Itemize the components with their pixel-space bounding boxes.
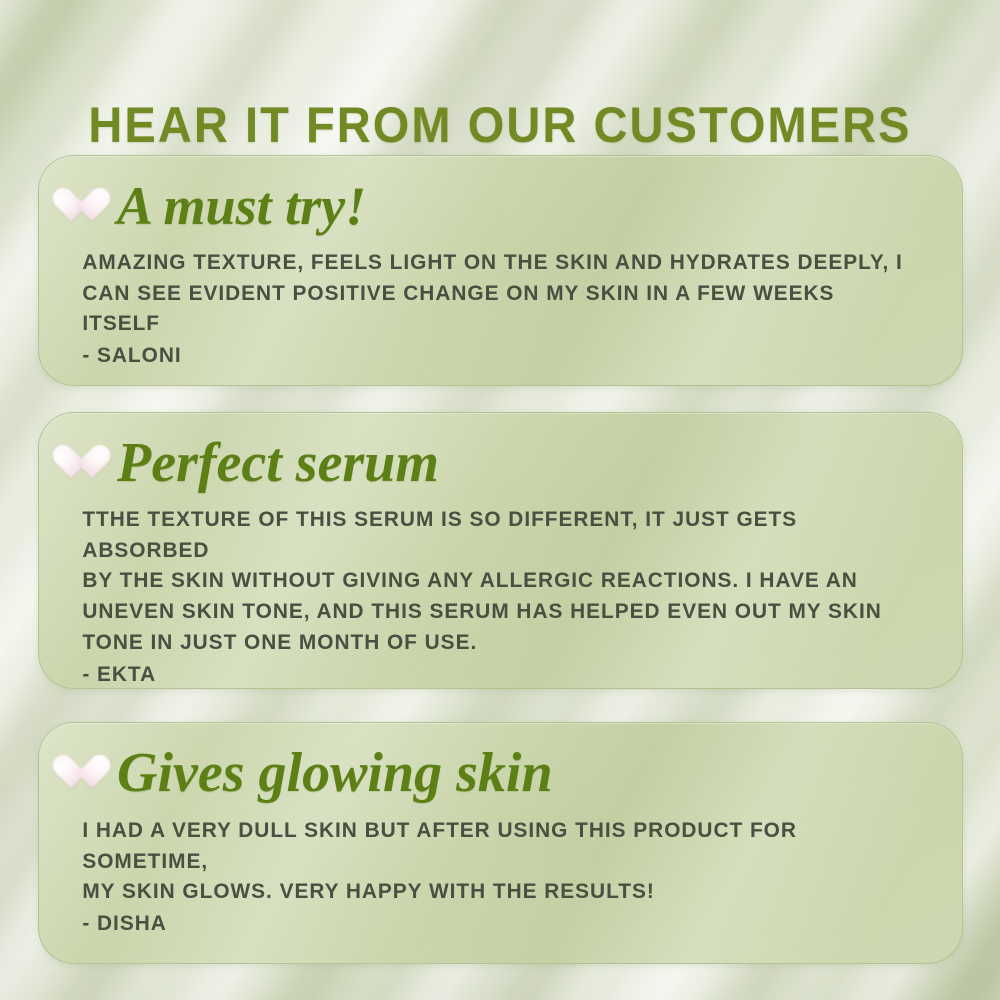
heart-icon: [61, 443, 103, 483]
testimonial-body-line: I HAD A VERY DULL SKIN BUT AFTER USING T…: [82, 815, 913, 876]
testimonial-card: A must try! AMAZING TEXTURE, FEELS LIGHT…: [38, 155, 963, 386]
testimonial-body-line: TONE IN JUST ONE MONTH OF USE.: [82, 627, 913, 658]
testimonial-heading: Gives glowing skin: [117, 745, 553, 801]
testimonial-header: A must try!: [61, 156, 940, 233]
testimonial-body-line: BY THE SKIN WITHOUT GIVING ANY ALLERGIC …: [82, 565, 913, 596]
testimonial-body-line: TTHE TEXTURE OF THIS SERUM IS SO DIFFERE…: [82, 504, 913, 565]
testimonial-heading: Perfect serum: [117, 435, 439, 491]
testimonial-heading: A must try!: [117, 179, 366, 233]
heart-icon: [61, 186, 103, 226]
testimonial-body-line: CAN SEE EVIDENT POSITIVE CHANGE ON MY SK…: [82, 278, 913, 339]
testimonial-body-line: MY SKIN GLOWS. VERY HAPPY WITH THE RESUL…: [82, 876, 913, 907]
testimonial-author: - SALONI: [61, 340, 914, 371]
testimonial-header: Perfect serum: [61, 413, 940, 491]
testimonial-body-line: AMAZING TEXTURE, FEELS LIGHT ON THE SKIN…: [82, 247, 913, 278]
testimonial-body: AMAZING TEXTURE, FEELS LIGHT ON THE SKIN…: [61, 247, 914, 339]
testimonial-body: I HAD A VERY DULL SKIN BUT AFTER USING T…: [61, 815, 914, 907]
testimonial-poster: HEAR IT FROM OUR CUSTOMERS A must try! A…: [0, 0, 1000, 1000]
testimonial-header: Gives glowing skin: [61, 723, 940, 801]
testimonial-author: - DISHA: [61, 908, 914, 939]
testimonial-body: TTHE TEXTURE OF THIS SERUM IS SO DIFFERE…: [61, 504, 914, 658]
testimonial-author: - EKTA: [61, 659, 914, 690]
testimonial-card: Perfect serum TTHE TEXTURE OF THIS SERUM…: [38, 412, 963, 689]
testimonial-body-line: UNEVEN SKIN TONE, AND THIS SERUM HAS HEL…: [82, 596, 913, 627]
page-title: HEAR IT FROM OUR CUSTOMERS: [30, 96, 970, 154]
heart-icon: [61, 753, 103, 793]
testimonial-card: Gives glowing skin I HAD A VERY DULL SKI…: [38, 722, 963, 964]
